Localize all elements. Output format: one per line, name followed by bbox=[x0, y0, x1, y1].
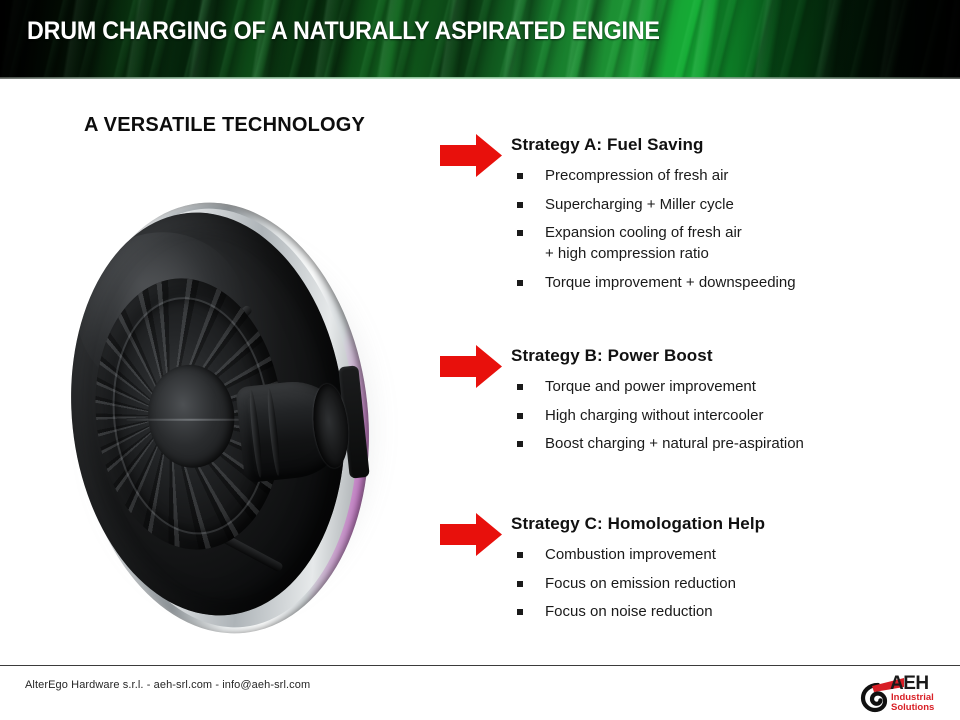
red-arrow-icon bbox=[440, 513, 502, 556]
list-item: Expansion cooling of fresh air + high co… bbox=[511, 223, 921, 264]
logo-tagline-line2: Solutions bbox=[891, 702, 934, 713]
list-item: Torque improvement + downspeeding bbox=[511, 273, 921, 294]
bullet-text: Precompression of fresh air bbox=[545, 167, 728, 184]
square-bullet-icon bbox=[517, 230, 523, 236]
square-bullet-icon bbox=[517, 441, 523, 447]
red-arrow-icon bbox=[440, 134, 502, 177]
aeh-logo: AEH Industrial Solutions bbox=[860, 668, 952, 714]
header-bottom-edge bbox=[0, 77, 960, 79]
list-item: Boost charging + natural pre-aspiration bbox=[511, 434, 921, 455]
red-arrow-icon bbox=[440, 345, 502, 388]
section-subtitle: A VERSATILE TECHNOLOGY bbox=[84, 114, 365, 137]
drum-port-rib-2 bbox=[266, 388, 282, 476]
bullet-text: Combustion improvement bbox=[545, 546, 716, 563]
strategy-c-heading: Strategy C: Homologation Help bbox=[511, 514, 765, 534]
footer-company-info: AlterEgo Hardware s.r.l. - aeh-srl.com -… bbox=[25, 679, 310, 691]
bullet-text-line2: + high compression ratio bbox=[545, 244, 921, 265]
square-bullet-icon bbox=[517, 552, 523, 558]
strategy-a-heading: Strategy A: Fuel Saving bbox=[511, 135, 704, 155]
square-bullet-icon bbox=[517, 413, 523, 419]
bullet-text: Focus on emission reduction bbox=[545, 575, 736, 592]
bullet-text: High charging without intercooler bbox=[545, 407, 763, 424]
strategy-c-bullet-list: Combustion improvement Focus on emission… bbox=[511, 545, 921, 631]
list-item: Focus on noise reduction bbox=[511, 602, 921, 623]
slide-header-banner: DRUM CHARGING OF A NATURALLY ASPIRATED E… bbox=[0, 0, 960, 78]
square-bullet-icon bbox=[517, 609, 523, 615]
bullet-text: Boost charging + natural pre-aspiration bbox=[545, 435, 804, 452]
drum-port-rib-1 bbox=[248, 390, 264, 478]
list-item: Supercharging + Miller cycle bbox=[511, 195, 921, 216]
bullet-text: Expansion cooling of fresh air bbox=[545, 224, 742, 241]
strategy-a-bullet-list: Precompression of fresh air Superchargin… bbox=[511, 166, 921, 301]
square-bullet-icon bbox=[517, 581, 523, 587]
bullet-text: Focus on noise reduction bbox=[545, 603, 713, 620]
drum-charger-image bbox=[58, 182, 408, 654]
footer-divider bbox=[0, 665, 960, 666]
strategy-b-heading: Strategy B: Power Boost bbox=[511, 346, 713, 366]
drum-outlet-port bbox=[235, 377, 348, 483]
strategy-b-bullet-list: Torque and power improvement High chargi… bbox=[511, 377, 921, 463]
slide-title: DRUM CHARGING OF A NATURALLY ASPIRATED E… bbox=[27, 17, 660, 46]
bullet-text: Torque improvement + downspeeding bbox=[545, 274, 796, 291]
list-item: Combustion improvement bbox=[511, 545, 921, 566]
square-bullet-icon bbox=[517, 384, 523, 390]
logo-mark-text: AEH bbox=[890, 673, 929, 694]
square-bullet-icon bbox=[517, 173, 523, 179]
list-item: Focus on emission reduction bbox=[511, 574, 921, 595]
list-item: Torque and power improvement bbox=[511, 377, 921, 398]
square-bullet-icon bbox=[517, 280, 523, 286]
bullet-text: Torque and power improvement bbox=[545, 378, 756, 395]
square-bullet-icon bbox=[517, 202, 523, 208]
bullet-text: Supercharging + Miller cycle bbox=[545, 196, 734, 213]
list-item: Precompression of fresh air bbox=[511, 166, 921, 187]
list-item: High charging without intercooler bbox=[511, 406, 921, 427]
